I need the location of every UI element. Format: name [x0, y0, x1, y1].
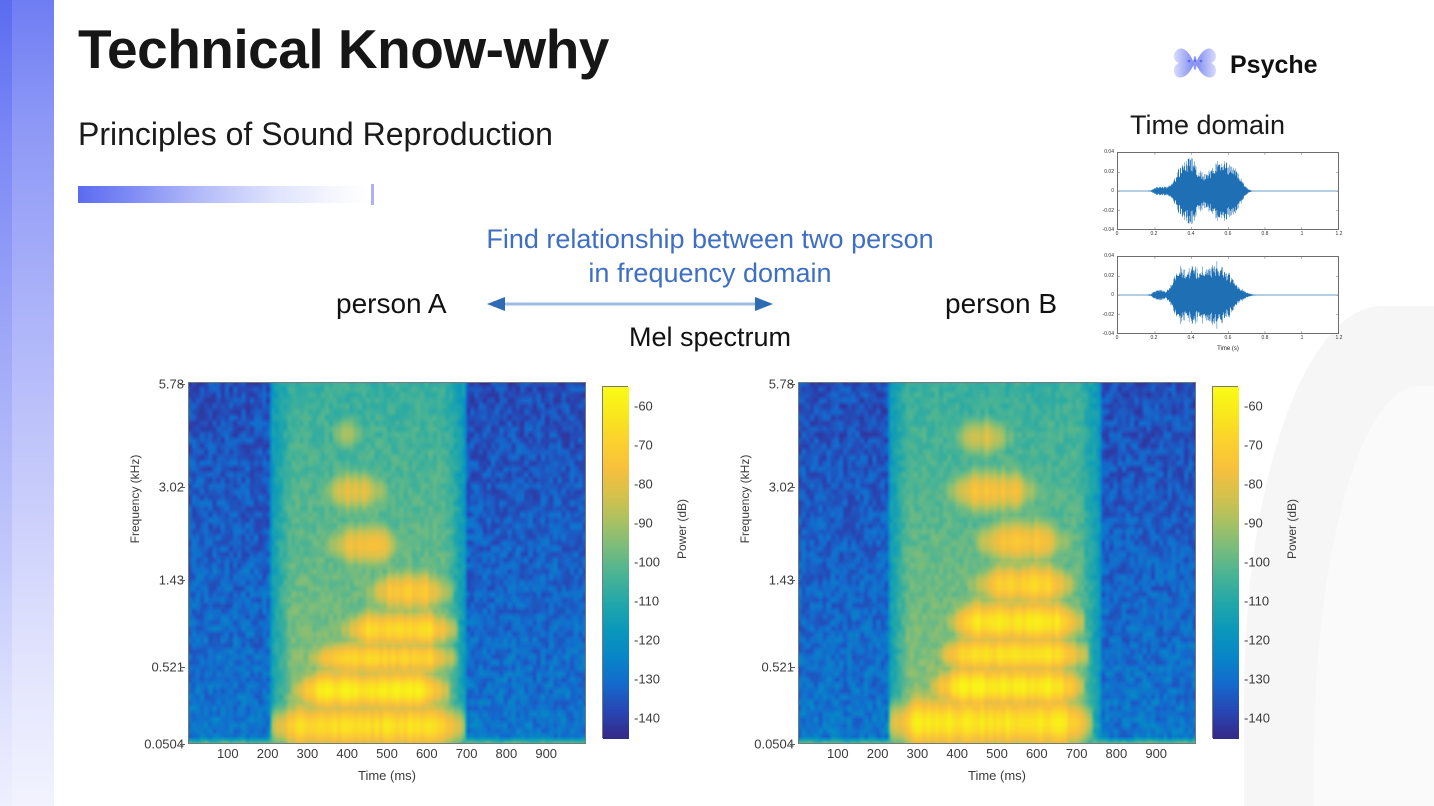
y-tick-mark — [180, 384, 185, 385]
y-tick-mark — [180, 744, 185, 745]
left-edge-accent-dark — [0, 0, 12, 806]
y-tick-label: 1.43 — [724, 573, 794, 588]
waveform-x-tick-label: 0.8 — [1257, 231, 1273, 237]
waveform-x-axis-title: Time (s) — [1117, 346, 1339, 352]
y-tick-mark — [790, 580, 795, 581]
x-tick-label: 600 — [416, 746, 438, 761]
y-tick-label: 0.0504 — [724, 737, 794, 752]
page-title: Technical Know-why — [78, 22, 609, 77]
colorbar-tick-label: -80 — [1244, 476, 1263, 491]
colorbar-tick-label: -130 — [1244, 672, 1270, 687]
waveform-x-tick-label: 1.2 — [1331, 231, 1347, 237]
colorbar-tick-label: -110 — [634, 594, 659, 609]
x-tick-label: 300 — [297, 746, 319, 761]
colorbar-tick-label: -120 — [634, 633, 660, 648]
y-tick-label: 0.521 — [724, 659, 794, 674]
left-edge-spacer — [54, 0, 64, 806]
y-tick-label: 1.43 — [114, 573, 184, 588]
x-tick-label: 500 — [376, 746, 398, 761]
waveform-x-tick-label: 1 — [1294, 335, 1310, 341]
colorbar-tick-label: -140 — [634, 711, 660, 726]
waveform-x-tick-label: 1.2 — [1331, 335, 1347, 341]
waveform-x-tick-label: 0 — [1109, 335, 1125, 341]
y-tick-mark — [790, 384, 795, 385]
colorbar-tick-label: -110 — [1244, 594, 1269, 609]
spectrogram-plot-a — [188, 382, 586, 744]
brand-lockup: Psyche — [1170, 46, 1318, 85]
colorbar-tick-label: -80 — [634, 476, 653, 491]
y-axis-title-b: Frequency (kHz) — [738, 434, 752, 564]
colorbar-b — [1212, 386, 1238, 738]
x-tick-label: 400 — [946, 746, 968, 761]
colorbar-tick-label: -60 — [1244, 398, 1263, 413]
colorbar-tick-label: -70 — [634, 437, 653, 452]
x-tick-label: 700 — [456, 746, 478, 761]
waveform-y-tick-label: 0.04 — [1092, 253, 1114, 259]
waveform-y-tick-label: 0.02 — [1092, 273, 1114, 279]
title-underline-gradient — [78, 186, 368, 203]
colorbar-tick-label: -90 — [634, 515, 653, 530]
waveform-canvas-a — [1118, 153, 1338, 229]
colorbar-tick-label: -100 — [1244, 555, 1270, 570]
x-axis-labels-b: 100200300400500600700800900 — [798, 746, 1196, 766]
y-tick-label: 5.78 — [114, 377, 184, 392]
waveform-x-tick-label: 0.2 — [1146, 335, 1162, 341]
colorbar-a — [602, 386, 628, 738]
mel-spectrum-label: Mel spectrum — [500, 322, 920, 353]
colorbar-title-b: Power (dB) — [1285, 469, 1299, 589]
x-axis-title-b: Time (ms) — [798, 768, 1196, 783]
x-tick-label: 400 — [336, 746, 358, 761]
x-tick-label: 100 — [217, 746, 239, 761]
colorbar-tick-label: -120 — [1244, 633, 1270, 648]
annotation-line-1: Find relationship between two person — [400, 224, 1020, 255]
colorbar-tick-label: -90 — [1244, 515, 1263, 530]
figure-person-a: 5.783.021.430.5210.0504 Frequency (kHz) … — [110, 372, 670, 792]
x-tick-label: 600 — [1026, 746, 1048, 761]
colorbar-canvas-a — [603, 387, 629, 739]
left-edge-accent-light — [12, 0, 54, 806]
y-tick-label: 3.02 — [114, 479, 184, 494]
y-tick-mark — [180, 487, 185, 488]
butterfly-icon — [1170, 46, 1220, 85]
colorbar-tick-label: -130 — [634, 672, 660, 687]
x-tick-label: 900 — [1145, 746, 1167, 761]
waveform-y-tick-label: -0.02 — [1092, 208, 1114, 214]
y-tick-mark — [790, 487, 795, 488]
slide-canvas: Technical Know-why Principles of Sound R… — [0, 0, 1434, 806]
x-tick-label: 200 — [257, 746, 279, 761]
x-tick-label: 800 — [1106, 746, 1128, 761]
waveform-plot-person-a — [1117, 152, 1339, 230]
colorbar-tick-label: -70 — [1244, 437, 1263, 452]
y-tick-label: 3.02 — [724, 479, 794, 494]
time-domain-heading: Time domain — [1130, 110, 1285, 141]
x-tick-label: 200 — [867, 746, 889, 761]
x-axis-title-a: Time (ms) — [188, 768, 586, 783]
double-arrow-icon — [485, 293, 775, 315]
spectrogram-canvas-a — [189, 383, 585, 743]
waveform-x-tick-label: 0.4 — [1183, 231, 1199, 237]
y-axis-labels-a: 5.783.021.430.5210.0504 — [110, 382, 184, 744]
y-tick-label: 0.521 — [114, 659, 184, 674]
waveform-x-tick-label: 0.2 — [1146, 231, 1162, 237]
y-tick-mark — [180, 580, 185, 581]
x-tick-label: 800 — [496, 746, 518, 761]
waveform-x-tick-label: 0.4 — [1183, 335, 1199, 341]
figure-person-b: 5.783.021.430.5210.0504 Frequency (kHz) … — [720, 372, 1280, 792]
y-tick-label: 5.78 — [724, 377, 794, 392]
waveform-y-tick-label: -0.02 — [1092, 312, 1114, 318]
colorbar-tick-label: -140 — [1244, 711, 1270, 726]
waveform-x-tick-label: 0 — [1109, 231, 1125, 237]
x-tick-label: 500 — [986, 746, 1008, 761]
x-tick-label: 900 — [535, 746, 557, 761]
colorbar-tick-label: -60 — [634, 398, 653, 413]
spectrogram-plot-b — [798, 382, 1196, 744]
x-axis-labels-a: 100200300400500600700800900 — [188, 746, 586, 766]
person-b-label: person B — [945, 288, 1057, 320]
waveform-y-tick-label: 0 — [1092, 188, 1114, 194]
waveform-x-tick-label: 0.8 — [1257, 335, 1273, 341]
x-tick-label: 100 — [827, 746, 849, 761]
person-a-label: person A — [336, 288, 447, 320]
colorbar-title-a: Power (dB) — [675, 469, 689, 589]
y-axis-labels-b: 5.783.021.430.5210.0504 — [720, 382, 794, 744]
waveform-y-tick-label: 0.02 — [1092, 169, 1114, 175]
y-tick-label: 0.0504 — [114, 737, 184, 752]
waveform-plot-person-b — [1117, 256, 1339, 334]
annotation-line-2: in frequency domain — [400, 258, 1020, 289]
waveform-y-tick-label: 0.04 — [1092, 149, 1114, 155]
waveform-canvas-b — [1118, 257, 1338, 333]
page-subtitle: Principles of Sound Reproduction — [78, 118, 553, 150]
waveform-y-tick-label: 0 — [1092, 292, 1114, 298]
spectrogram-canvas-b — [799, 383, 1195, 743]
y-axis-title-a: Frequency (kHz) — [128, 434, 142, 564]
waveform-x-tick-label: 0.6 — [1220, 335, 1236, 341]
brand-name: Psyche — [1230, 51, 1318, 80]
x-tick-label: 700 — [1066, 746, 1088, 761]
waveform-x-tick-label: 1 — [1294, 231, 1310, 237]
y-tick-mark — [180, 667, 185, 668]
colorbar-tick-label: -100 — [634, 555, 660, 570]
x-tick-label: 300 — [907, 746, 929, 761]
y-tick-mark — [790, 667, 795, 668]
waveform-x-tick-label: 0.6 — [1220, 231, 1236, 237]
colorbar-canvas-b — [1213, 387, 1239, 739]
y-tick-mark — [790, 744, 795, 745]
title-underline-tick — [371, 184, 374, 205]
